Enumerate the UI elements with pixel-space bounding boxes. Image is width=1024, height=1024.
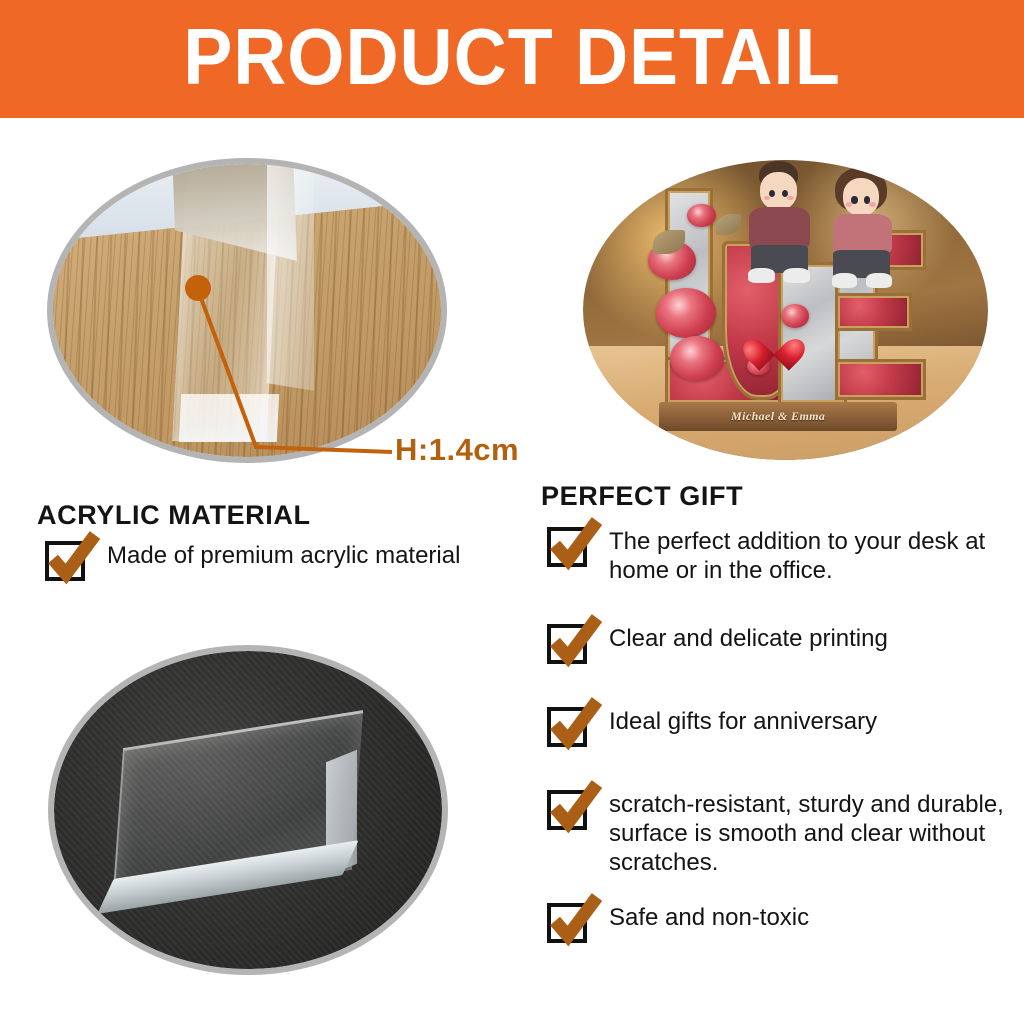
love-acrylic-plaque-photo: Michael & Emma — [583, 160, 988, 460]
boy-shoe-right — [783, 268, 810, 283]
plaque-name-text: Michael & Emma — [731, 409, 825, 424]
girl-cheek-right — [869, 202, 876, 207]
letter-E-middle-arm — [835, 293, 912, 331]
girl-shirt — [833, 214, 892, 256]
checkmark-icon — [548, 518, 602, 570]
girl-shoe-left — [832, 273, 857, 288]
checkbox-checked-icon — [547, 790, 587, 830]
header-band: PRODUCT DETAIL — [0, 0, 1024, 118]
feature-item: Made of premium acrylic material — [45, 541, 515, 581]
feature-label: Ideal gifts for anniversary — [609, 707, 877, 736]
leaf-decoration — [716, 214, 742, 235]
wood-table-scene — [53, 164, 441, 457]
checkmark-icon — [548, 698, 602, 750]
photo-inner — [54, 651, 442, 969]
checkmark-icon — [46, 532, 100, 584]
rose-decoration — [656, 288, 716, 338]
acrylic-right-face — [267, 164, 314, 391]
acrylic-edge-on-wood-photo — [47, 158, 447, 463]
feature-item: scratch-resistant, sturdy and durable, s… — [547, 790, 1007, 877]
girl-eye-left — [851, 196, 857, 203]
checkbox-checked-icon — [45, 541, 85, 581]
feature-label: scratch-resistant, sturdy and durable, s… — [609, 790, 1007, 877]
dimension-label: H:1.4cm — [395, 432, 519, 468]
girl-shoe-right — [866, 273, 891, 288]
checkmark-icon — [548, 615, 602, 667]
feature-item: Clear and delicate printing — [547, 624, 997, 664]
feature-label: Safe and non-toxic — [609, 903, 809, 932]
heart-gem-decoration — [753, 325, 796, 362]
girl-cheek-left — [846, 202, 853, 207]
checkbox-checked-icon — [547, 624, 587, 664]
boy-cheek-right — [787, 196, 794, 201]
boy-eye-left — [769, 190, 775, 197]
name-plaque: Michael & Emma — [659, 402, 897, 431]
photo-inner — [53, 164, 441, 457]
feature-label: Clear and delicate printing — [609, 624, 888, 653]
checkmark-icon — [548, 894, 602, 946]
feature-item: The perfect addition to your desk at hom… — [547, 527, 997, 585]
checkbox-checked-icon — [547, 903, 587, 943]
boy-cheek-left — [764, 196, 771, 201]
boy-head — [760, 172, 797, 210]
girl-head — [843, 178, 880, 216]
feature-label: Made of premium acrylic material — [107, 541, 460, 570]
acrylic-block-on-slate-photo — [48, 645, 448, 975]
acrylic-base-edge — [179, 394, 279, 442]
checkbox-checked-icon — [547, 707, 587, 747]
letter-E-bottom-arm — [835, 359, 926, 399]
girl-character — [824, 167, 903, 294]
feature-item: Ideal gifts for anniversary — [547, 707, 997, 747]
rose-decoration — [670, 336, 724, 381]
checkbox-checked-icon — [547, 527, 587, 567]
boy-shoe-left — [748, 268, 775, 283]
boy-shirt — [749, 207, 809, 250]
product-detail-infographic: PRODUCT DETAIL H:1.4cm — [0, 0, 1024, 1024]
feature-label: The perfect addition to your desk at hom… — [609, 527, 997, 585]
checkmark-icon — [548, 781, 602, 833]
page-title: PRODUCT DETAIL — [41, 14, 983, 100]
boy-character — [741, 161, 820, 288]
rose-decoration — [687, 204, 715, 228]
photo-inner: Michael & Emma — [583, 160, 988, 460]
section-heading-acrylic-material: ACRYLIC MATERIAL — [37, 500, 311, 531]
dimension-marker-dot — [185, 275, 211, 301]
section-heading-perfect-gift: PERFECT GIFT — [541, 481, 743, 512]
love-letter-sculpture: Michael & Emma — [648, 172, 932, 436]
feature-item: Safe and non-toxic — [547, 903, 997, 943]
